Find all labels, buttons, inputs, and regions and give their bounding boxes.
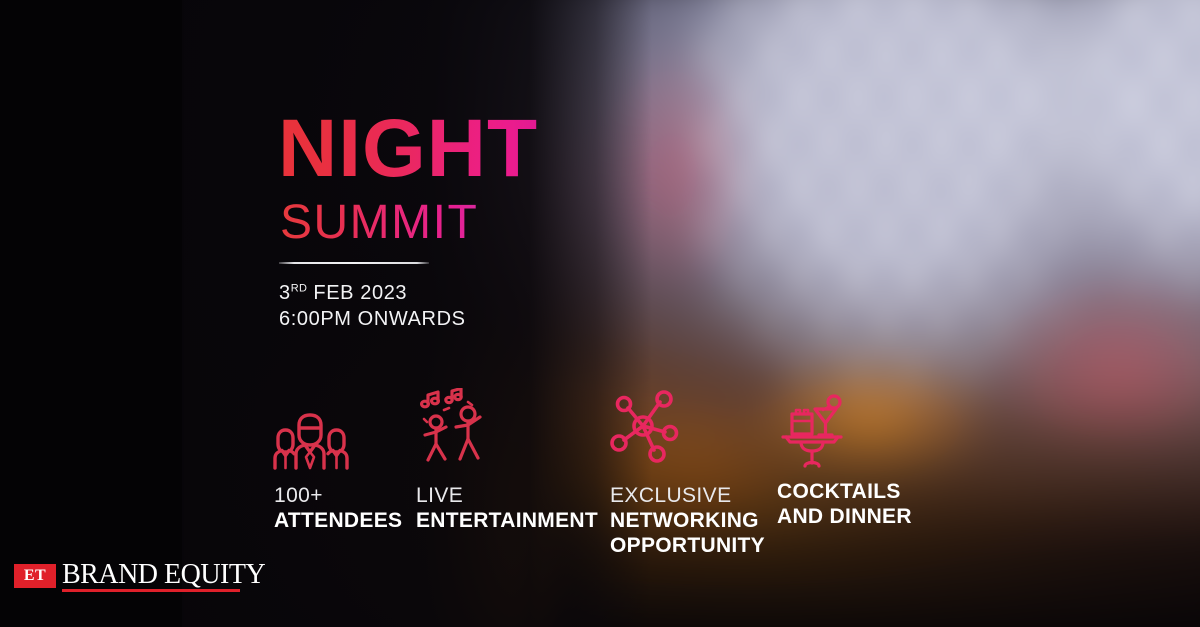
banner-content: NIGHT SUMMIT 3RD FEB 2023 6:00PM ONWARDS	[0, 0, 1200, 627]
feature-entertainment-text: LIVE ENTERTAINMENT	[416, 484, 598, 534]
feature-networking-line1: EXCLUSIVE	[610, 484, 765, 509]
network-nodes-icon	[610, 388, 682, 468]
feature-list: 100+ ATTENDEES	[0, 0, 1200, 627]
dancing-people-music-icon	[416, 388, 492, 476]
feature-attendees-line2: ATTENDEES	[274, 509, 402, 534]
feature-attendees-text: 100+ ATTENDEES	[274, 484, 402, 534]
feature-networking-line3: OPPORTUNITY	[610, 534, 765, 559]
feature-attendees-line1: 100+	[274, 484, 402, 509]
feature-cocktails-line1: COCKTAILS	[777, 480, 912, 505]
et-badge: ET	[14, 564, 56, 588]
feature-cocktails-text: COCKTAILS AND DINNER	[777, 480, 912, 530]
feature-entertainment-line1: LIVE	[416, 484, 598, 509]
serving-tray-cocktail-icon	[778, 390, 848, 470]
event-promo-banner: NIGHT SUMMIT 3RD FEB 2023 6:00PM ONWARDS	[0, 0, 1200, 627]
feature-networking-line2: NETWORKING	[610, 509, 765, 534]
feature-networking-text: EXCLUSIVE NETWORKING OPPORTUNITY	[610, 484, 765, 558]
logo-red-underline	[62, 589, 240, 592]
feature-cocktails-line2: AND DINNER	[777, 505, 912, 530]
et-brand-equity-logo[interactable]: ET BRAND EQUITY	[14, 560, 242, 596]
brand-equity-wordmark: BRAND EQUITY	[62, 560, 265, 590]
three-people-icon	[272, 404, 350, 474]
feature-entertainment-line2: ENTERTAINMENT	[416, 509, 598, 534]
